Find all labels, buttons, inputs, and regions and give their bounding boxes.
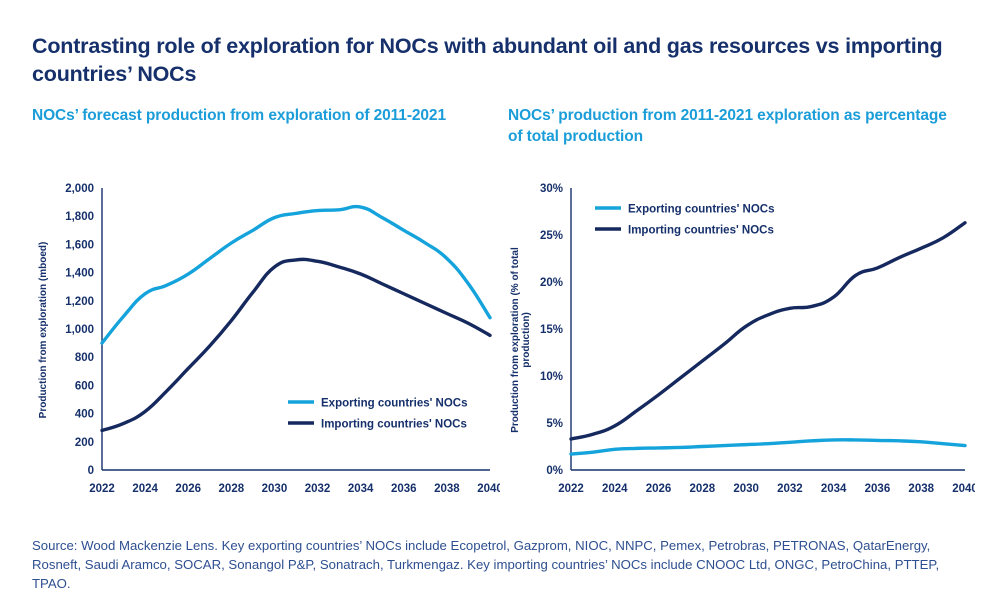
legend-label: Exporting countries' NOCs: [321, 398, 468, 410]
y-axis-title: Production from exploration (mboed): [38, 242, 49, 419]
chart-page: Contrasting role of exploration for NOCs…: [0, 0, 1000, 600]
y-tick-label: 30%: [540, 183, 563, 195]
left-chart-subtitle: NOCs’ forecast production from explorati…: [32, 106, 482, 127]
series-line: [571, 223, 965, 439]
y-tick-label: 200: [75, 437, 94, 449]
y-axis-title: production): [521, 312, 532, 368]
legend-label: Importing countries' NOCs: [628, 225, 774, 237]
y-tick-label: 1,600: [65, 239, 94, 251]
left-chart-panel: 02004006008001,0001,2001,4001,6001,8002,…: [30, 170, 500, 500]
left-line-chart: 02004006008001,0001,2001,4001,6001,8002,…: [30, 170, 500, 510]
x-tick-label: 2022: [89, 483, 115, 495]
page-title: Contrasting role of exploration for NOCs…: [32, 32, 952, 89]
y-tick-label: 5%: [546, 418, 563, 430]
y-tick-label: 600: [75, 380, 94, 392]
y-tick-label: 10%: [540, 371, 563, 383]
x-tick-label: 2036: [391, 483, 417, 495]
x-tick-label: 2040: [952, 483, 975, 495]
right-line-chart: 0%5%10%15%20%25%30%202220242026202820302…: [505, 170, 975, 510]
y-tick-label: 0%: [546, 465, 563, 477]
x-tick-label: 2030: [262, 483, 288, 495]
y-tick-label: 1,400: [65, 268, 94, 280]
x-tick-label: 2034: [348, 483, 374, 495]
x-tick-label: 2028: [219, 483, 245, 495]
x-tick-label: 2024: [602, 483, 628, 495]
x-tick-label: 2038: [434, 483, 460, 495]
x-tick-label: 2026: [646, 483, 672, 495]
x-tick-label: 2040: [477, 483, 500, 495]
y-tick-label: 20%: [540, 277, 563, 289]
x-tick-label: 2024: [132, 483, 158, 495]
x-tick-label: 2034: [821, 483, 847, 495]
x-tick-label: 2030: [733, 483, 759, 495]
y-tick-label: 1,000: [65, 324, 94, 336]
series-line: [102, 207, 490, 344]
right-chart-subtitle: NOCs’ production from 2011-2021 explorat…: [508, 106, 958, 147]
right-chart-panel: 0%5%10%15%20%25%30%202220242026202820302…: [505, 170, 975, 500]
legend-label: Exporting countries' NOCs: [628, 204, 775, 216]
y-tick-label: 0: [88, 465, 94, 477]
x-tick-label: 2036: [865, 483, 891, 495]
y-tick-label: 1,200: [65, 296, 94, 308]
x-tick-label: 2038: [908, 483, 934, 495]
source-note: Source: Wood Mackenzie Lens. Key exporti…: [32, 536, 962, 593]
y-tick-label: 25%: [540, 230, 563, 242]
y-tick-label: 2,000: [65, 183, 94, 195]
y-tick-label: 800: [75, 352, 94, 364]
x-tick-label: 2022: [558, 483, 584, 495]
y-tick-label: 15%: [540, 324, 563, 336]
y-tick-label: 1,800: [65, 211, 94, 223]
series-line: [571, 440, 965, 454]
x-tick-label: 2026: [175, 483, 201, 495]
y-tick-label: 400: [75, 409, 94, 421]
x-tick-label: 2032: [305, 483, 331, 495]
y-axis-title: Production from exploration (% of total: [510, 247, 521, 433]
x-tick-label: 2032: [777, 483, 803, 495]
x-tick-label: 2028: [690, 483, 716, 495]
legend-label: Importing countries' NOCs: [321, 419, 467, 431]
